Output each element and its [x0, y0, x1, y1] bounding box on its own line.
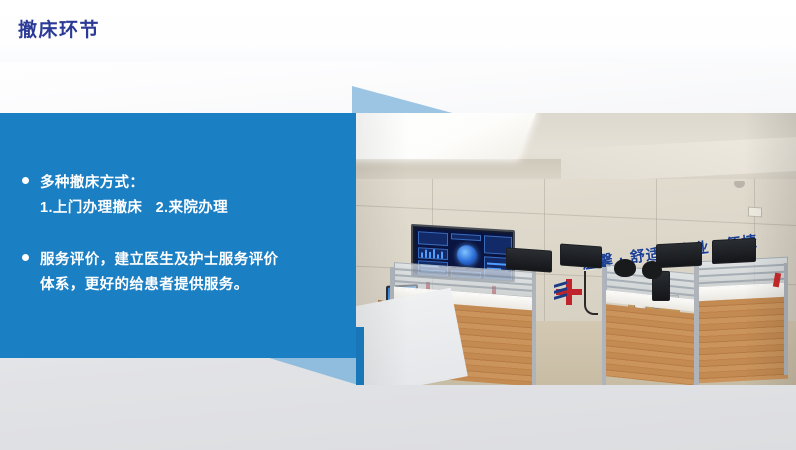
ceiling [356, 113, 796, 185]
list-item-label: 多种撤床方式： [40, 171, 344, 196]
desk-wood-panel [696, 297, 788, 384]
page-title: 撤床环节 [18, 19, 100, 43]
list-item-subtext: 体系，更好的给患者提供服务。 [40, 273, 344, 298]
content-panel: 多种撤床方式： 1.上门办理撤床 2.来院办理 服务评价，建立医生及护士服务评价… [0, 113, 356, 358]
reception-desk-right [596, 263, 792, 385]
monitor [712, 238, 756, 264]
photo-corner-wedge [356, 288, 468, 385]
monitor [506, 247, 552, 272]
globe-graphic-icon [457, 245, 477, 266]
desk-wood-panel [604, 304, 698, 385]
decor-triangle-top [352, 86, 456, 114]
photo-reception-office: 温馨 · 舒适 · 专业 · 便捷 [356, 113, 796, 385]
list-item: 多种撤床方式： 1.上门办理撤床 2.来院办理 [22, 171, 344, 221]
ceiling-skylight [356, 113, 536, 159]
monitor [656, 242, 702, 268]
wall-switch-plate [748, 207, 762, 218]
header-band [0, 0, 796, 62]
list-item-label: 服务评价，建立医生及护士服务评价 [40, 248, 344, 273]
office-chair [642, 261, 662, 279]
list-item: 服务评价，建立医生及护士服务评价 体系，更好的给患者提供服务。 [22, 248, 344, 298]
slide-canvas: 撤床环节 多种撤床方式： 1.上门办理撤床 2.来院办理 服务评价，建立医生及护… [0, 0, 796, 450]
office-chair [614, 259, 636, 277]
bullet-list: 多种撤床方式： 1.上门办理撤床 2.来院办理 服务评价，建立医生及护士服务评价… [22, 171, 344, 298]
photo-corner-accent [356, 327, 364, 385]
hospital-logo [556, 279, 582, 305]
ceiling-camera-icon [734, 181, 745, 188]
bullet-dot-icon [22, 177, 29, 184]
list-item-subtext: 1.上门办理撤床 2.来院办理 [40, 196, 344, 221]
ceiling-edge [561, 137, 796, 184]
bullet-dot-icon [22, 254, 29, 261]
decor-triangle-bottom [266, 357, 358, 385]
wall-seam [356, 205, 796, 226]
